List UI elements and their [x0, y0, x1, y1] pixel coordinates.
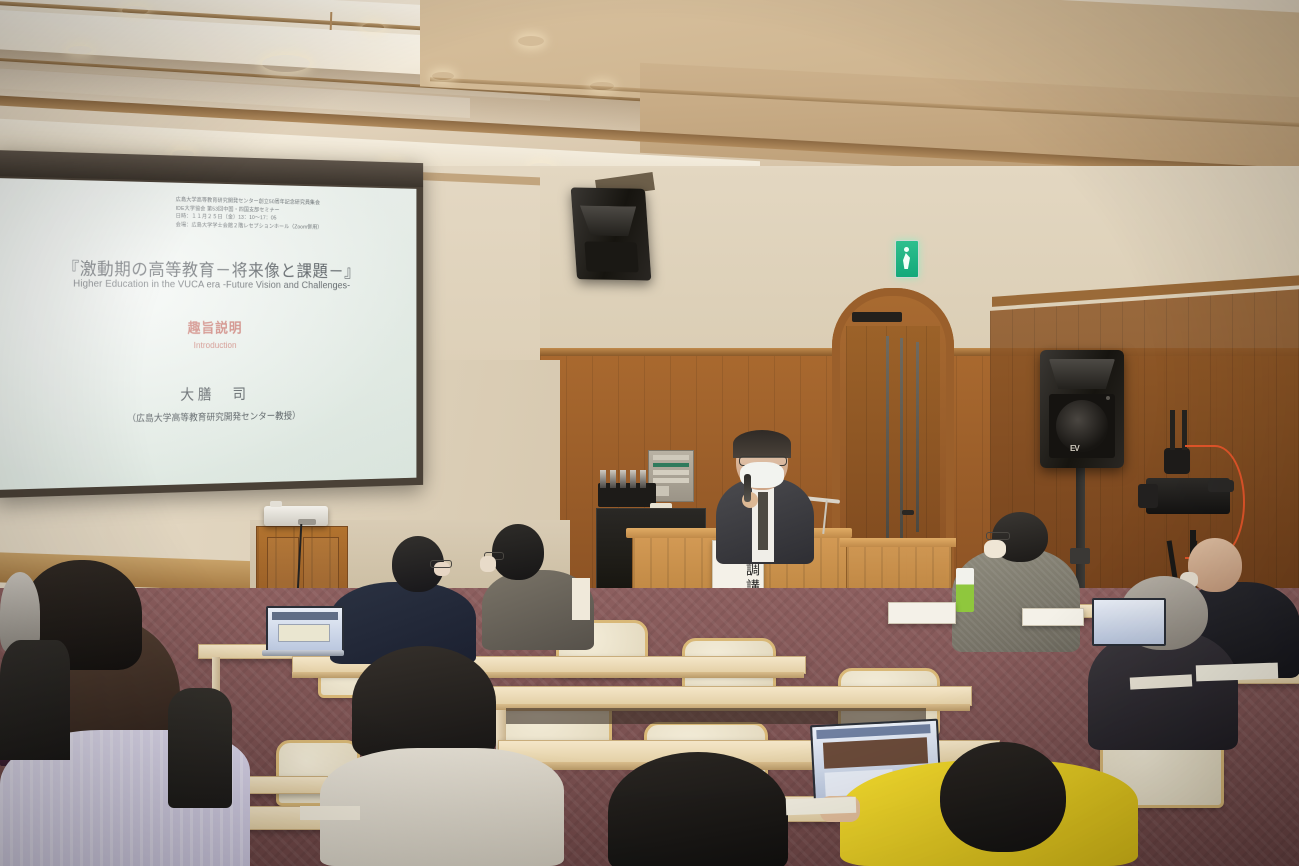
projector	[264, 506, 328, 526]
panel-row	[653, 455, 689, 460]
bag-on-floor	[168, 688, 232, 808]
downlight-large	[262, 55, 310, 72]
presenter-necktie	[758, 492, 768, 550]
microphone	[640, 470, 646, 488]
exit-icon-body	[903, 253, 910, 269]
laptop-screen[interactable]	[266, 606, 344, 654]
door-handle-bar-mid[interactable]	[900, 338, 903, 538]
downlight	[362, 23, 384, 32]
attendee-head-left-foreground	[352, 646, 496, 758]
attendee-glasses	[430, 560, 452, 568]
microphone	[620, 470, 626, 488]
laptop-base	[262, 650, 344, 656]
ceiling-speaker	[571, 187, 652, 280]
speaker-grille	[584, 242, 638, 273]
slide-presenter-name: 大膳 司	[0, 381, 416, 407]
papers-on-table	[1196, 663, 1279, 682]
attendee-head-foreground	[940, 742, 1066, 852]
projector-top-knob	[270, 501, 282, 507]
slide-header-block: 広島大学高等教育研究開発センター創立50周年記念研究員集会 IDE大学協会 第5…	[176, 196, 398, 233]
laptop-browser-bar	[816, 724, 930, 739]
laptop-screen-right[interactable]	[1092, 598, 1166, 646]
speaker-horn	[580, 206, 638, 237]
downlight	[68, 46, 92, 54]
projection-screen: 広島大学高等教育研究開発センター創立50周年記念研究員集会 IDE大学協会 第5…	[0, 150, 423, 498]
door-lever-handle[interactable]	[902, 510, 914, 515]
laptop-content-area	[278, 624, 330, 642]
laptop-app-titlebar	[272, 612, 338, 620]
name-placard	[888, 602, 956, 624]
camera-viewfinder	[1138, 484, 1158, 508]
slide-section-japanese: 趣旨説明	[0, 318, 416, 338]
downlight	[590, 82, 614, 90]
speaker-horn	[1049, 359, 1115, 389]
panel-row	[653, 470, 689, 475]
door-handle-bar-right[interactable]	[916, 342, 919, 532]
speaker-stand-clamp	[1070, 548, 1090, 564]
table-row	[470, 686, 972, 706]
downlight	[122, 6, 148, 15]
podium-side-top	[840, 538, 956, 547]
slide-title-english: Higher Education in the VUCA era -Future…	[0, 278, 416, 292]
papers-on-table	[572, 578, 590, 620]
attendee-body-edge-left	[0, 640, 70, 760]
hand-sanitizer-bottle	[956, 568, 974, 612]
attendee-glasses	[986, 532, 1010, 540]
speaker-led-indicator	[1106, 396, 1110, 400]
microphone	[600, 470, 606, 488]
emergency-exit-sign	[895, 240, 919, 278]
exit-icon	[904, 247, 909, 252]
door-closer	[852, 312, 902, 322]
conference-hall-photo: 広島大学高等教育研究開発センター創立50周年記念研究員集会 IDE大学協会 第5…	[0, 0, 1299, 866]
panel-indicator-bar	[653, 463, 689, 467]
attendee-face-mask	[984, 540, 1006, 558]
laptop-video-pane	[823, 737, 928, 768]
pa-speaker: EV	[1040, 350, 1124, 468]
papers-on-table	[786, 797, 857, 815]
slide-presenter-affiliation: （広島大学高等教育研究開発センター教授）	[0, 406, 416, 427]
slide-section-english: Introduction	[0, 340, 416, 351]
shotgun-microphone-right	[1182, 410, 1187, 450]
shotgun-microphone-left	[1170, 410, 1175, 450]
downlight	[432, 72, 454, 80]
name-placard	[1022, 608, 1084, 626]
presentation-slide: 広島大学高等教育研究開発センター創立50周年記念研究員集会 IDE大学協会 第5…	[0, 178, 416, 490]
microphone	[630, 470, 636, 488]
papers-on-table	[300, 806, 360, 820]
microphone-rack	[598, 483, 656, 507]
downlight	[518, 36, 544, 46]
handheld-microphone	[744, 474, 751, 502]
panel-row	[653, 478, 689, 483]
microphone	[610, 470, 616, 488]
presenter-hair	[733, 430, 791, 458]
door-handle-bar-left[interactable]	[886, 336, 889, 542]
attendee-face-mask	[480, 556, 496, 572]
attendee-head-center-foreground	[608, 752, 788, 866]
pa-speaker-brand-logo: EV	[1070, 444, 1090, 453]
